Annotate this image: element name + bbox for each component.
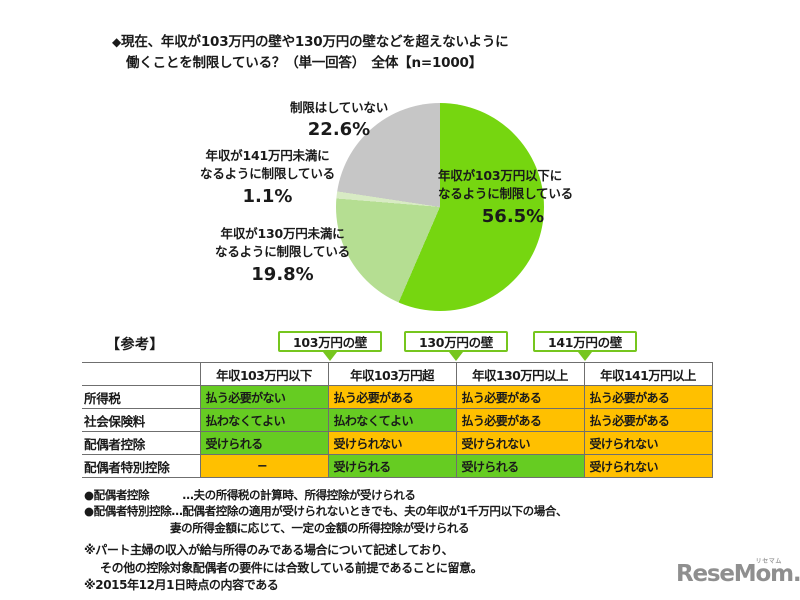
table-cell-r2-c1: 受けられない — [328, 432, 456, 455]
table-col-header-1: 年収103万円超 — [328, 363, 456, 386]
table-cell-r0-c1: 払う必要がある — [328, 386, 456, 409]
table-cell-r3-c1: 受けられる — [328, 455, 456, 478]
pie-label-under-103-line2: なるように制限している — [438, 186, 573, 201]
table-col-header-0: 年収103万円以下 — [200, 363, 328, 386]
table-cell-r1-c3: 払う必要がある — [584, 409, 712, 432]
pie-label-no-restriction: 制限はしていない 22.6% — [249, 99, 429, 143]
pie-chart-area: 制限はしていない 22.6% 年収が141万円未満に なるように制限している 1… — [0, 95, 800, 330]
pie-label-under-141: 年収が141万円未満に なるように制限している 1.1% — [170, 147, 365, 210]
table-header-row: 年収103万円以下 年収103万円超 年収130万円以上 年収141万円以上 — [82, 363, 712, 386]
footnote-line-3: ※2015年12月1日時点の内容である — [84, 577, 482, 595]
reference-heading: 【参考】 — [106, 334, 164, 354]
table-cell-r1-c0: 払わなくてよい — [200, 409, 328, 432]
table-col-header-3: 年収141万円以上 — [584, 363, 712, 386]
callout-wall-103-label: 103万円の壁 — [293, 332, 367, 351]
reference-table: 年収103万円以下 年収103万円超 年収130万円以上 年収141万円以上 所… — [82, 362, 713, 478]
callout-arrow-103-icon — [323, 352, 337, 361]
note-line-1: ●配偶者控除 …夫の所得税の計算時、所得控除が受けられる — [84, 487, 567, 503]
title-line-2: 働くことを制限している？（単一回答） 全体【n=1000】 — [126, 55, 482, 71]
pie-label-no-restriction-percent: 22.6% — [249, 117, 429, 143]
table-cell-r0-c0: 払う必要がない — [200, 386, 328, 409]
callout-arrow-130-icon — [449, 352, 463, 361]
table-cell-r1-c1: 払わなくてよい — [328, 409, 456, 432]
resemom-logo: ReseMom. リセマム — [676, 556, 788, 588]
title-line-1: 現在、年収が103万円の壁や130万円の壁などを超えないように — [121, 34, 508, 50]
callout-wall-130: 130万円の壁 — [404, 331, 508, 352]
table-cell-r3-c3: 受けられない — [584, 455, 712, 478]
pie-label-under-130-line1: 年収が130万円未満に — [221, 226, 345, 241]
pie-label-under-141-line2: なるように制限している — [200, 166, 335, 181]
table-row: 配偶者特別控除−受けられる受けられる受けられない — [82, 455, 712, 478]
table-cell-r3-c2: 受けられる — [456, 455, 584, 478]
diamond-bullet-icon: ◆ — [112, 35, 121, 49]
note-line-2: ●配偶者特別控除…配偶者控除の適用が受けられないときでも、夫の年収が1千万円以下… — [84, 503, 567, 519]
table-row-header-2: 配偶者控除 — [82, 432, 200, 455]
pie-label-under-103: 年収が103万円以下に なるように制限している 56.5% — [438, 167, 628, 230]
callout-wall-141: 141万円の壁 — [533, 331, 637, 352]
pie-label-under-141-percent: 1.1% — [170, 184, 365, 210]
pie-label-under-141-line1: 年収が141万円未満に — [206, 148, 330, 163]
callout-arrow-141-icon — [578, 352, 592, 361]
table-cell-r3-c0: − — [200, 455, 328, 478]
pie-label-no-restriction-text: 制限はしていない — [290, 100, 388, 115]
table-row: 配偶者控除受けられる受けられない受けられない受けられない — [82, 432, 712, 455]
page-title: ◆現在、年収が103万円の壁や130万円の壁などを超えないように 働くことを制限… — [112, 32, 712, 74]
callout-wall-103: 103万円の壁 — [278, 331, 382, 352]
pie-label-under-103-percent: 56.5% — [438, 204, 588, 230]
table-row-header-1: 社会保険料 — [82, 409, 200, 432]
notes-block: ●配偶者控除 …夫の所得税の計算時、所得控除が受けられる ●配偶者特別控除…配偶… — [84, 487, 567, 536]
pie-label-under-130-line2: なるように制限している — [215, 244, 350, 259]
pie-label-under-130: 年収が130万円未満に なるように制限している 19.8% — [180, 225, 385, 288]
table-row: 所得税払う必要がない払う必要がある払う必要がある払う必要がある — [82, 386, 712, 409]
pie-label-under-130-percent: 19.8% — [180, 262, 385, 288]
table-cell-r2-c2: 受けられない — [456, 432, 584, 455]
table-row-header-0: 所得税 — [82, 386, 200, 409]
footnotes-block: ※パート主婦の収入が給与所得のみである場合について記述しており、 その他の控除対… — [84, 542, 482, 595]
table-corner-cell — [82, 363, 200, 386]
table-cell-r2-c3: 受けられない — [584, 432, 712, 455]
pie-label-under-103-line1: 年収が103万円以下に — [438, 168, 562, 183]
table-cell-r0-c2: 払う必要がある — [456, 386, 584, 409]
table-row-header-3: 配偶者特別控除 — [82, 455, 200, 478]
resemom-logo-kana: リセマム — [756, 556, 782, 565]
table-col-header-2: 年収130万円以上 — [456, 363, 584, 386]
footnote-line-2: その他の控除対象配偶者の要件には合致している前提であることに留意。 — [84, 560, 482, 578]
table-row: 社会保険料払わなくてよい払わなくてよい払う必要がある払う必要がある — [82, 409, 712, 432]
note-line-3: 妻の所得金額に応じて、一定の金額の所得控除が受けられる — [84, 520, 567, 536]
callout-wall-130-label: 130万円の壁 — [419, 332, 493, 351]
callout-wall-141-label: 141万円の壁 — [548, 332, 622, 351]
table-cell-r1-c2: 払う必要がある — [456, 409, 584, 432]
infographic-page: ◆現在、年収が103万円の壁や130万円の壁などを超えないように 働くことを制限… — [0, 0, 800, 600]
table-cell-r2-c0: 受けられる — [200, 432, 328, 455]
footnote-line-1: ※パート主婦の収入が給与所得のみである場合について記述しており、 — [84, 542, 482, 560]
table-cell-r0-c3: 払う必要がある — [584, 386, 712, 409]
